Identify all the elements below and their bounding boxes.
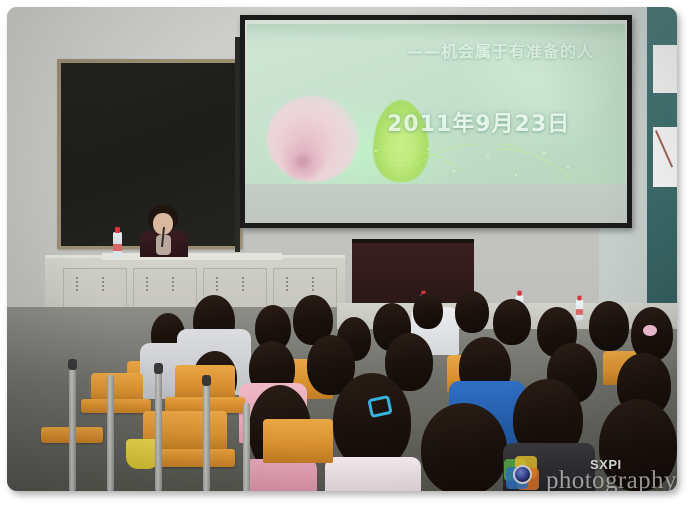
presentation-slide: ——机会属于有准备的人 2011年9月23日 bbox=[247, 24, 625, 184]
water-bottle bbox=[113, 232, 122, 258]
audience-body bbox=[325, 457, 421, 491]
rose-graphic bbox=[267, 96, 359, 182]
audience-body bbox=[503, 443, 595, 491]
teacher-desk-top bbox=[102, 253, 282, 260]
audience-head bbox=[455, 291, 489, 333]
photo-page: ——机会属于有准备的人 2011年9月23日 bbox=[0, 0, 692, 505]
seat-pole bbox=[243, 403, 250, 491]
audience-head bbox=[589, 301, 629, 351]
projection-screen-surface: ——机会属于有准备的人 2011年9月23日 bbox=[245, 20, 627, 223]
window-upper bbox=[653, 45, 677, 93]
audience-body bbox=[243, 459, 317, 491]
speaker-figure bbox=[138, 205, 190, 257]
seat-pole bbox=[107, 375, 114, 491]
rose-center bbox=[293, 152, 313, 170]
audience-head bbox=[413, 293, 443, 329]
audience-head bbox=[493, 299, 531, 345]
audience-head bbox=[333, 373, 411, 469]
photo-frame: ——机会属于有准备的人 2011年9月23日 bbox=[7, 7, 677, 491]
screen-blank-area bbox=[245, 184, 627, 223]
seat-back bbox=[263, 419, 333, 463]
seat-pole bbox=[69, 363, 76, 491]
hair-bow bbox=[643, 325, 657, 336]
audience-head bbox=[421, 403, 507, 491]
seat-pole-cap bbox=[202, 375, 211, 386]
slide-tagline: ——机会属于有准备的人 bbox=[407, 38, 594, 62]
sparkle-group bbox=[357, 144, 597, 184]
water-bottle bbox=[576, 300, 583, 321]
photograph: ——机会属于有准备的人 2011年9月23日 bbox=[7, 7, 677, 491]
seat-pole-cap bbox=[68, 359, 77, 370]
seat-pole bbox=[155, 367, 162, 491]
seat-pole bbox=[203, 379, 210, 491]
seat-cushion bbox=[81, 399, 151, 413]
projection-screen: ——机会属于有准备的人 2011年9月23日 bbox=[240, 15, 632, 228]
window-lower bbox=[653, 127, 677, 187]
seat-pole-cap bbox=[154, 363, 163, 374]
swirl-graphic bbox=[357, 144, 597, 184]
audience-head bbox=[599, 399, 677, 491]
slide-date: 2011年9月23日 bbox=[387, 106, 570, 138]
